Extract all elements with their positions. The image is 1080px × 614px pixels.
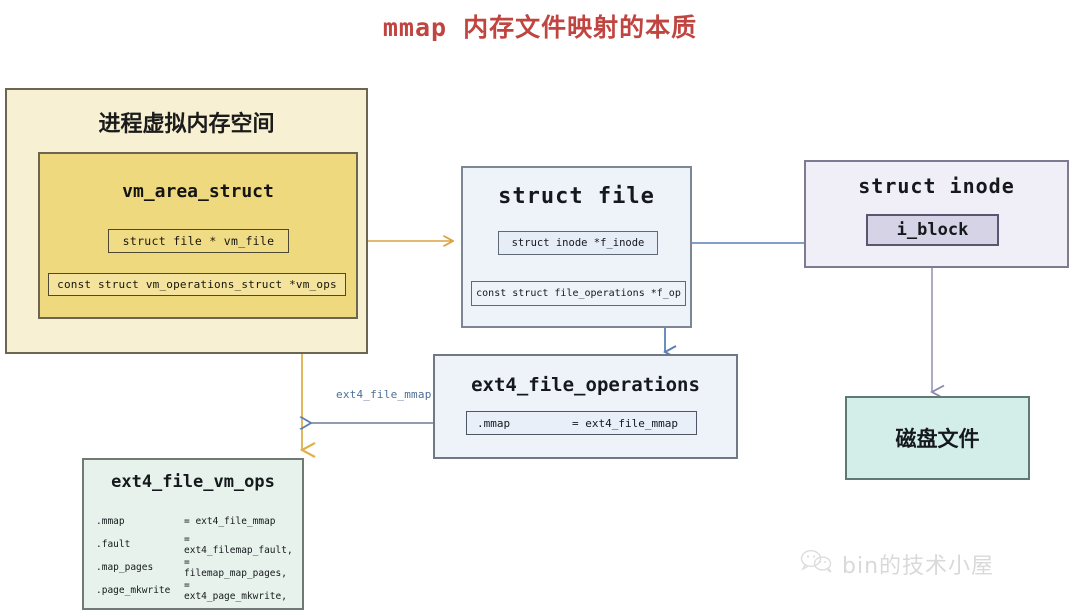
row-value: = ext4_file_mmap (572, 417, 696, 430)
list-item: .fault = ext4_filemap_fault, (96, 533, 296, 556)
ext4-file-operations-title: ext4_file_operations (435, 374, 736, 396)
row-value: = ext4_filemap_fault, (184, 534, 296, 556)
row-key: .mmap (467, 417, 572, 430)
ext4-file-vm-ops-rows: .mmap = ext4_file_mmap .fault = ext4_fil… (96, 510, 296, 602)
list-item: .mmap = ext4_file_mmap (96, 510, 296, 533)
ext4-file-operations-row: .mmap = ext4_file_mmap (466, 411, 697, 435)
arrow-label-ext4-file-mmap: ext4_file_mmap (336, 388, 432, 401)
row-key: .fault (96, 539, 184, 550)
ext4-file-operations-box: ext4_file_operations (433, 354, 738, 459)
title-cn: 内存文件映射的本质 (463, 13, 697, 42)
field-f-op: const struct file_operations *f_op (471, 281, 686, 306)
field-i-block: i_block (866, 214, 999, 246)
field-vm-ops: const struct vm_operations_struct *vm_op… (48, 273, 346, 296)
vm-area-struct-title: vm_area_struct (40, 181, 356, 202)
row-key: .mmap (96, 516, 184, 527)
watermark-text: bin的技术小屋 (842, 548, 994, 580)
struct-file-title: struct file (463, 184, 690, 209)
list-item: .page_mkwrite = ext4_page_mkwrite, (96, 579, 296, 602)
row-value: = filemap_map_pages, (184, 557, 296, 579)
field-vm-file: struct file * vm_file (108, 229, 289, 253)
wechat-icon (800, 549, 834, 579)
field-f-inode: struct inode *f_inode (498, 231, 658, 255)
disk-file-box: 磁盘文件 (845, 396, 1030, 480)
page-title: mmap 内存文件映射的本质 (0, 8, 1080, 44)
list-item: .map_pages = filemap_map_pages, (96, 556, 296, 579)
title-mono: mmap (383, 13, 447, 42)
row-value: = ext4_file_mmap (184, 516, 296, 527)
vm-space-title: 进程虚拟内存空间 (7, 106, 366, 138)
watermark: bin的技术小屋 (800, 548, 994, 580)
row-key: .map_pages (96, 562, 184, 573)
row-key: .page_mkwrite (96, 585, 184, 596)
diagram-canvas: mmap 内存文件映射的本质 (0, 0, 1080, 614)
ext4-file-vm-ops-title: ext4_file_vm_ops (84, 472, 302, 492)
ext4-file-vm-ops-box: ext4_file_vm_ops .mmap = ext4_file_mmap … (82, 458, 304, 610)
row-value: = ext4_page_mkwrite, (184, 580, 296, 602)
struct-inode-title: struct inode (806, 174, 1067, 198)
